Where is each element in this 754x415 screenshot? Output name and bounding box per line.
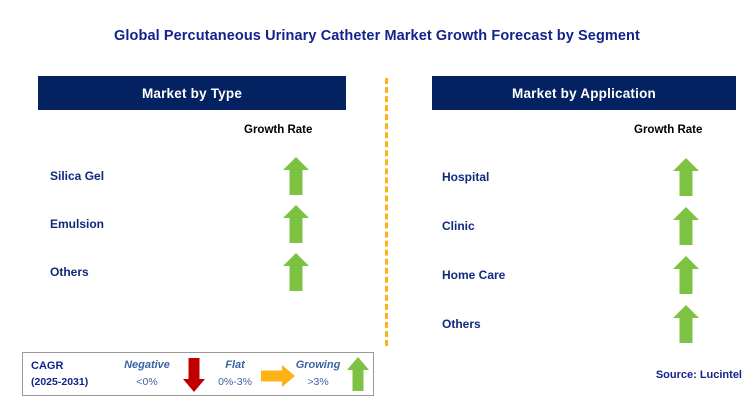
arrow-up-green-icon (666, 305, 706, 343)
arrow-up-green-icon (276, 253, 316, 291)
arrow-up-green-icon (276, 205, 316, 243)
rows-market-by-application: Hospital Clinic Home Care (432, 152, 736, 348)
table-row: Home Care (432, 250, 736, 299)
arrow-up-green-icon (276, 157, 316, 195)
slide-canvas: Global Percutaneous Urinary Catheter Mar… (0, 0, 754, 415)
table-row: Hospital (432, 152, 736, 201)
row-label-emulsion: Emulsion (38, 217, 104, 231)
row-label-hospital: Hospital (432, 170, 489, 184)
row-label-home-care: Home Care (432, 268, 505, 282)
table-row: Emulsion (38, 200, 346, 248)
panel-market-by-type: Market by Type Growth Rate Silica Gel Em… (38, 76, 346, 110)
table-row: Others (432, 299, 736, 348)
rows-market-by-type: Silica Gel Emulsion Others (38, 152, 346, 296)
panel-header-market-by-application: Market by Application (432, 76, 736, 110)
table-row: Silica Gel (38, 152, 346, 200)
arrow-up-green-icon (666, 158, 706, 196)
panel-header-market-by-type: Market by Type (38, 76, 346, 110)
page-title: Global Percutaneous Urinary Catheter Mar… (0, 28, 754, 44)
arrow-up-green-icon (666, 256, 706, 294)
row-label-silica-gel: Silica Gel (38, 169, 104, 183)
growth-rate-label-left: Growth Rate (244, 124, 312, 136)
row-label-clinic: Clinic (432, 219, 475, 233)
table-row: Others (38, 248, 346, 296)
row-label-others-type: Others (38, 265, 89, 279)
panel-market-by-application: Market by Application Growth Rate Hospit… (432, 76, 736, 110)
source-attribution: Source: Lucintel (0, 369, 742, 381)
growth-rate-label-right: Growth Rate (634, 124, 702, 136)
table-row: Clinic (432, 201, 736, 250)
vertical-dashed-divider (385, 78, 388, 346)
arrow-up-green-icon (666, 207, 706, 245)
row-label-others-application: Others (432, 317, 481, 331)
